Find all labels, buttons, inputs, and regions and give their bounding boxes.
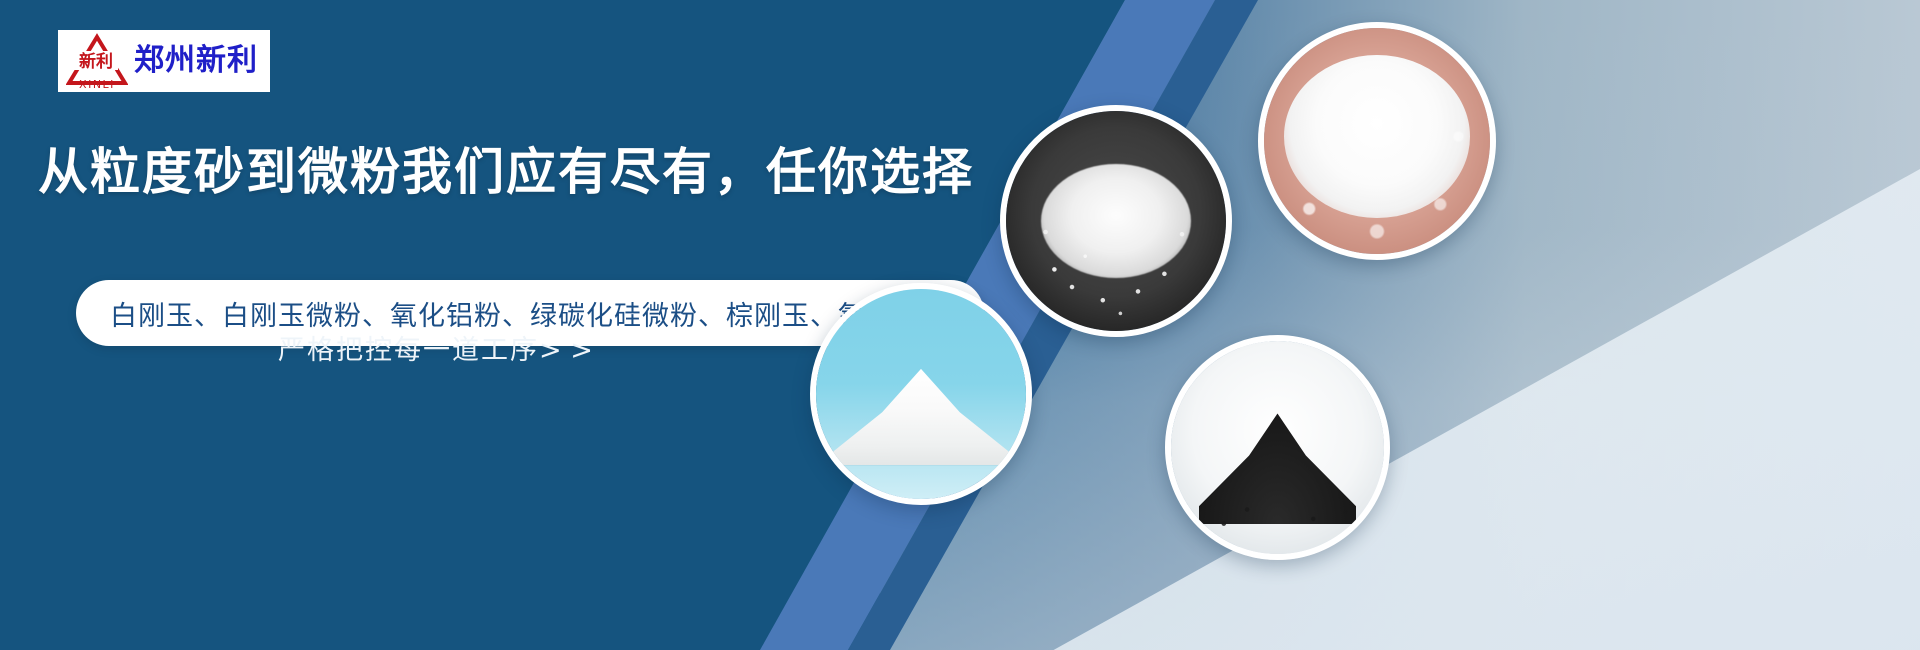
scattered-grit: [1188, 486, 1367, 533]
xinli-triangle-icon: 新利 XINLI: [66, 33, 128, 89]
tagline-text: 严格把控每一道工序: [278, 335, 539, 366]
company-logo[interactable]: 新利 XINLI 郑州新利: [58, 30, 270, 92]
logo-mark-cn-text: 新利: [79, 51, 113, 72]
product-image-white-alumina-micropowder: [1258, 22, 1496, 260]
company-name: 郑州新利: [134, 46, 258, 76]
tagline-link[interactable]: 严格把控每一道工序> >: [278, 328, 593, 367]
promo-banner: 新利 XINLI 郑州新利 从粒度砂到微粉我们应有尽有，任你选择 白刚玉、白刚玉…: [0, 0, 1920, 650]
logo-mark-en-text: XINLI: [79, 78, 115, 89]
headline: 从粒度砂到微粉我们应有尽有，任你选择: [38, 143, 974, 202]
product-image-green-silicon-carbide-grain: [1165, 335, 1390, 560]
scattered-grains: [1006, 111, 1226, 331]
product-image-white-fused-alumina-grain: [1000, 105, 1232, 337]
tagline-arrows-icon: > >: [539, 335, 593, 366]
scattered-dust: [1264, 28, 1490, 254]
product-image-alumina-powder-cone: [810, 283, 1032, 505]
